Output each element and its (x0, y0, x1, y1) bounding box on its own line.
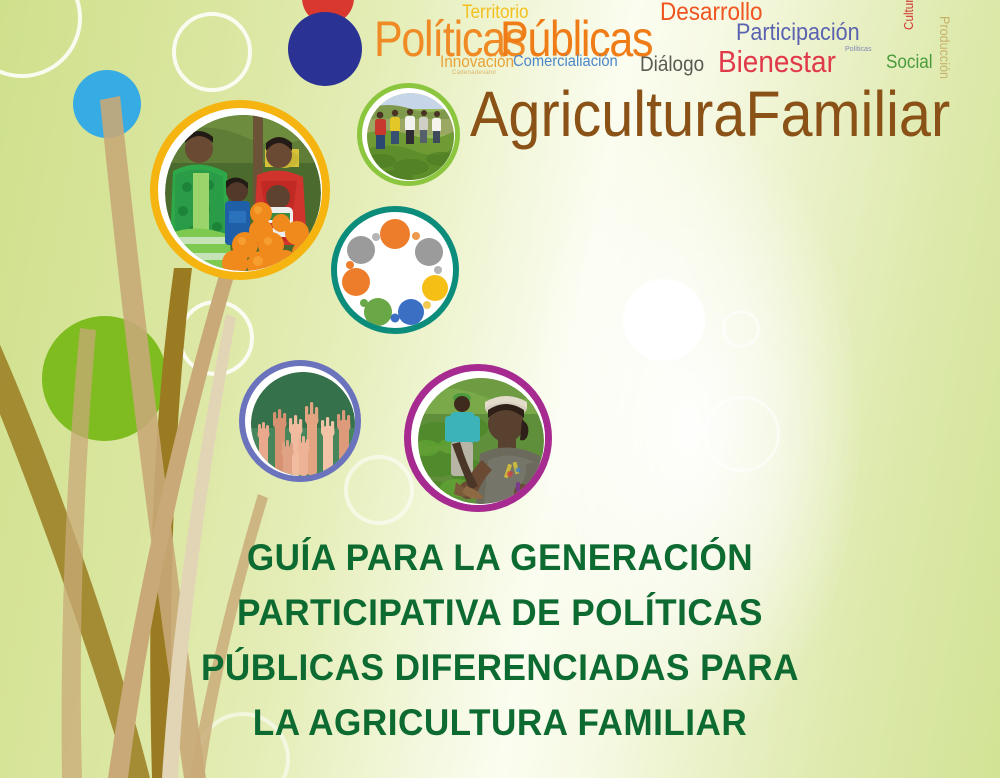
cloud-word-territorio: Territorio (462, 3, 529, 22)
dot-gray-right-top (415, 238, 443, 266)
cloud-word-cultura: Cultura (902, 0, 915, 30)
cloud-word-innovacion: Innovación (440, 53, 514, 70)
headline-line-4: LA AGRICULTURA FAMILIAR (25, 695, 975, 750)
main-title: AgriculturaFamiliar (470, 82, 950, 146)
decor-ring-center-lower (344, 455, 414, 525)
photo-bubble-women-selling-oranges (150, 100, 330, 280)
dot-yellow-right (422, 275, 448, 301)
cloud-word-comercializacion: Comercialiación (513, 54, 618, 70)
photo-farmer-harvest (418, 378, 544, 504)
photo-bubble-raised-hands (239, 360, 361, 482)
headline-line-2: PARTICIPATIVA DE POLÍTICAS (25, 585, 975, 640)
circle-of-dots-icon (337, 212, 453, 328)
cloud-word-participacion: Participación (736, 21, 860, 45)
cloud-word-politicas-small: Políticas (845, 46, 871, 53)
cover-headline: GUÍA PARA LA GENERACIÓN PARTICIPATIVA DE… (0, 530, 1000, 750)
decor-ring-right-lower (704, 396, 780, 472)
dot-orange-top (380, 219, 410, 249)
photo-field-visit (367, 93, 454, 180)
photo-raised-hands (251, 372, 355, 476)
dot-green-bottom-left (364, 298, 392, 326)
cloud-word-dialogo: Diálogo (640, 54, 704, 75)
cloud-word-social: Social (886, 53, 933, 72)
photo-bubble-field-visit (357, 83, 460, 186)
dot-blue-bottom (398, 299, 424, 325)
cloud-word-bienestar: Bienestar (718, 46, 836, 77)
dot-gray-left-top (347, 236, 375, 264)
cloud-word-cadenadevalor: Cadenadevalor (452, 70, 497, 76)
photo-women-oranges (165, 115, 321, 271)
decor-ring-right-small (722, 310, 760, 348)
headline-line-1: GUÍA PARA LA GENERACIÓN (25, 530, 975, 585)
dot-orange-left (342, 268, 370, 296)
cloud-word-produccion: Producción (938, 16, 952, 79)
headline-line-3: PÚBLICAS DIFERENCIADAS PARA (25, 640, 975, 695)
photo-bubble-farmer-harvest (404, 364, 552, 512)
book-cover: Políticas Públicas Territorio Innovación… (0, 0, 1000, 778)
participation-circle-diagram (331, 206, 459, 334)
decor-circle-white-center (623, 279, 705, 361)
